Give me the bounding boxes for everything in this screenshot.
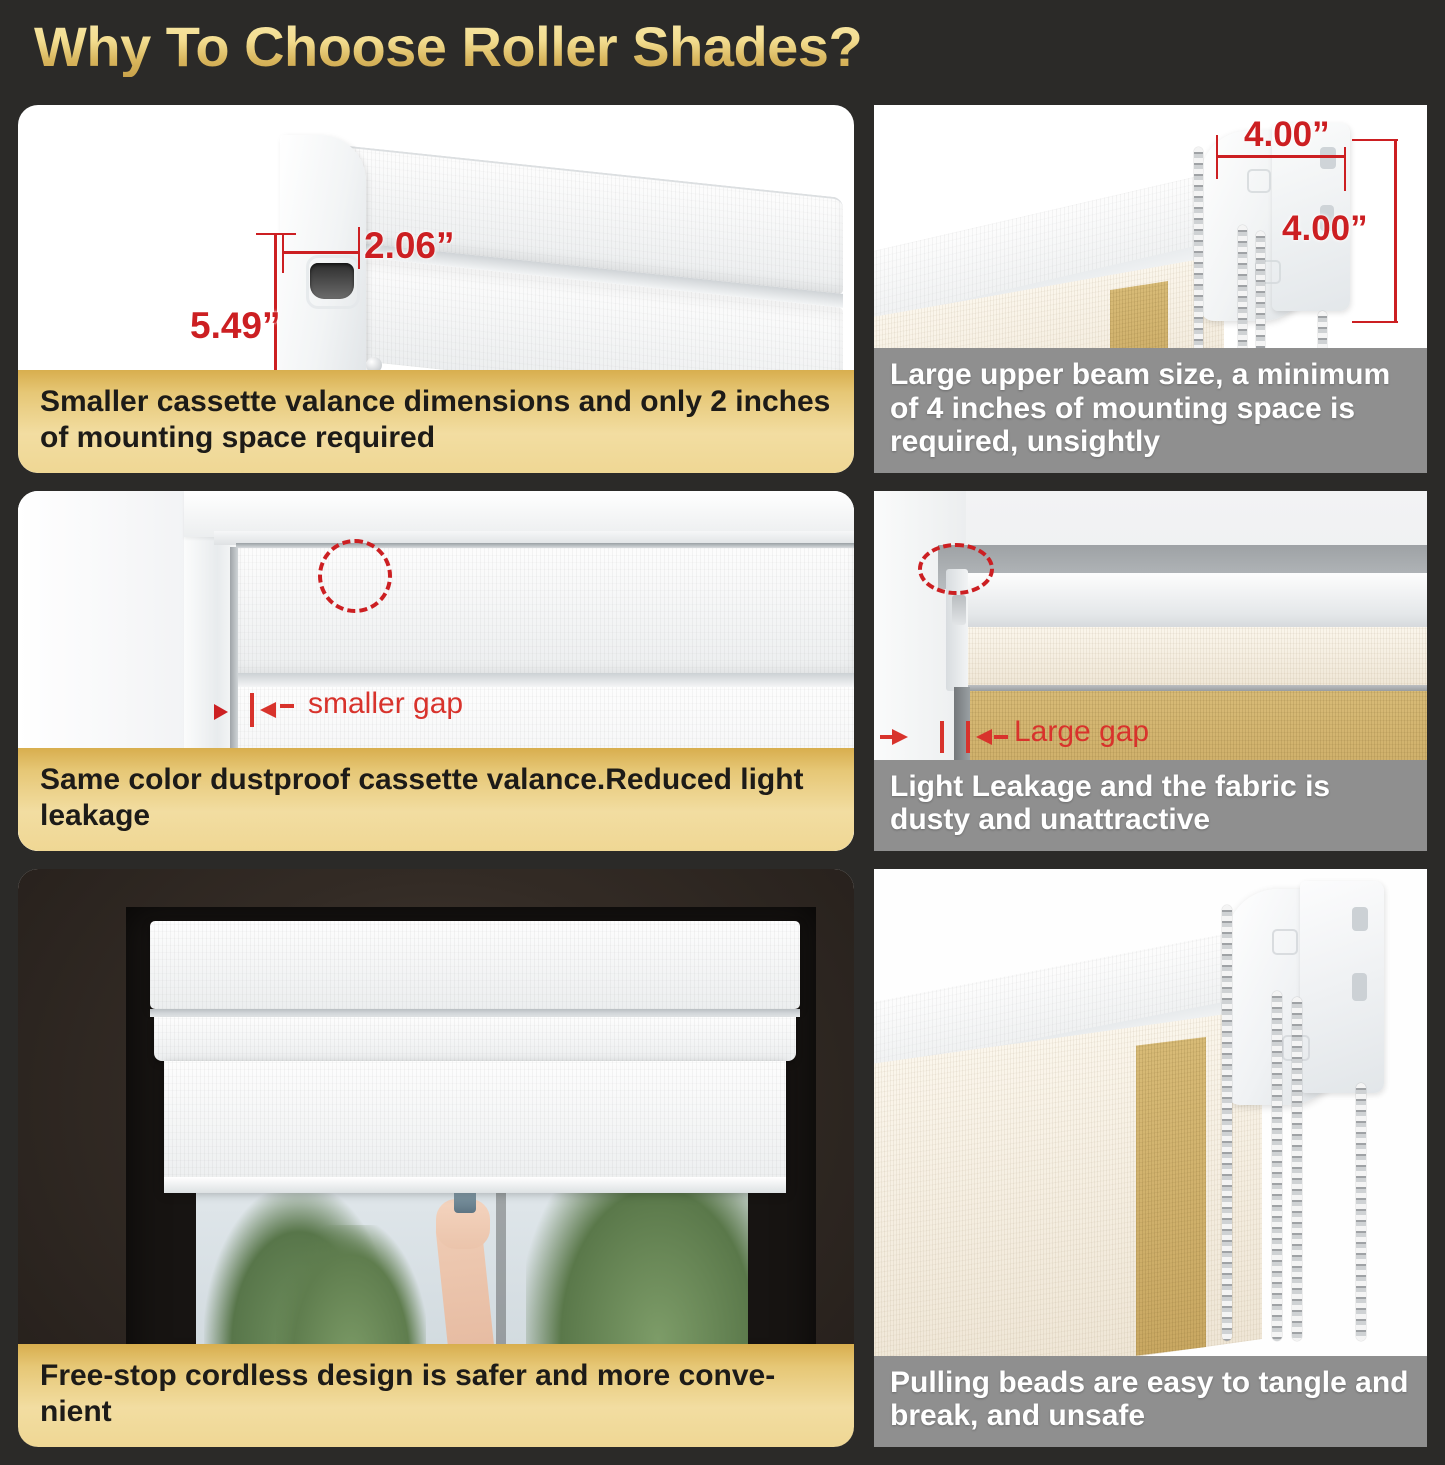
- caption-row2-bad: Light Leakage and the fabric is dusty an…: [874, 760, 1427, 851]
- comparison-grid: 2.06” 5.49” Smaller cassette valance dim…: [0, 105, 1445, 1465]
- caption-text: Free-stop cordless design is safer and m…: [40, 1358, 832, 1429]
- dim-tick-top-549: [256, 233, 296, 235]
- gap-marker: [966, 721, 970, 753]
- caption-row3-bad: Pulling beads are easy to tangle and bre…: [874, 1356, 1427, 1447]
- highlight-circle-gap: [918, 543, 994, 595]
- bead-chain: [1292, 997, 1302, 1341]
- bead-chain: [1356, 1083, 1366, 1341]
- bead-chain: [1222, 905, 1232, 1341]
- bead-chain: [1272, 991, 1282, 1341]
- annotation-smaller-gap: smaller gap: [308, 687, 463, 721]
- caption-row3-good: Free-stop cordless design is safer and m…: [18, 1344, 854, 1447]
- dim-tick-right-206: [358, 227, 360, 269]
- gap-marker: [250, 693, 254, 727]
- dimension-label-width-206: 2.06”: [364, 225, 455, 267]
- dim-tick-top-400h: [1352, 139, 1398, 141]
- annotation-large-gap: Large gap: [1014, 715, 1149, 749]
- dim-line-400h: [1394, 139, 1397, 323]
- caption-text: Pulling beads are easy to tangle and bre…: [890, 1366, 1411, 1433]
- panel-smaller-gap: smaller gap Same color dustproof cassett…: [18, 491, 854, 851]
- caption-row1-bad: Large upper beam size, a minimum of 4 in…: [874, 348, 1427, 473]
- dimension-label-height-549: 5.49”: [190, 305, 281, 347]
- dim-tick-bottom-400h: [1352, 321, 1398, 323]
- caption-row1-good: Smaller cassette valance dimensions and …: [18, 370, 854, 473]
- dim-line-206: [282, 251, 360, 254]
- caption-text: Same color dustproof cassette valance.Re…: [40, 762, 832, 833]
- panel-large-gap: Large gap Light Leakage and the fabric i…: [874, 491, 1427, 851]
- panel-cassette-dimensions: 2.06” 5.49” Smaller cassette valance dim…: [18, 105, 854, 473]
- gap-marker: [940, 721, 944, 753]
- dimension-label-width-400: 4.00”: [1244, 115, 1330, 155]
- panel-large-beam-dimensions: 4.00” 4.00” Large upper beam size, a min…: [874, 105, 1427, 473]
- dim-tick-right-400w: [1344, 147, 1346, 191]
- caption-text: Large upper beam size, a minimum of 4 in…: [890, 358, 1411, 459]
- comparison-row-3: Free-stop cordless design is safer and m…: [0, 869, 1445, 1447]
- dimension-label-height-400: 4.00”: [1282, 209, 1368, 249]
- panel-pulling-beads: Pulling beads are easy to tangle and bre…: [874, 869, 1427, 1447]
- panel-cordless-design: Free-stop cordless design is safer and m…: [18, 869, 854, 1447]
- caption-row2-good: Same color dustproof cassette valance.Re…: [18, 748, 854, 851]
- caption-text: Smaller cassette valance dimensions and …: [40, 384, 832, 455]
- dim-line-400w: [1216, 155, 1346, 158]
- highlight-circle-seal: [318, 539, 392, 613]
- comparison-row-1: 2.06” 5.49” Smaller cassette valance dim…: [0, 105, 1445, 473]
- page-title: Why To Choose Roller Shades?: [34, 18, 862, 77]
- comparison-row-2: smaller gap Same color dustproof cassett…: [0, 491, 1445, 851]
- caption-text: Light Leakage and the fabric is dusty an…: [890, 770, 1411, 837]
- header: Why To Choose Roller Shades?: [0, 0, 1445, 105]
